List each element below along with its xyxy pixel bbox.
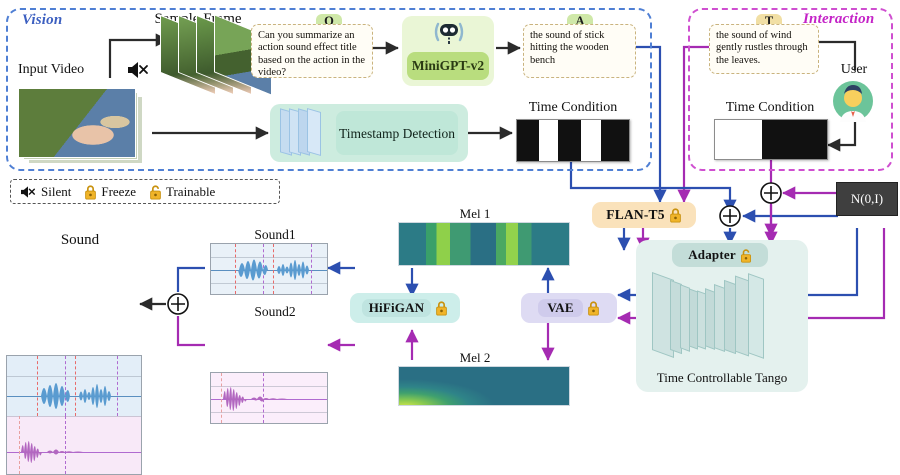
vae-module[interactable]: VAE — [521, 293, 617, 323]
open-lock-icon — [149, 184, 162, 200]
legend: Silent Freeze Trainable — [10, 179, 280, 204]
sum-node-output — [166, 292, 190, 321]
legend-item-freeze: Freeze — [84, 184, 136, 200]
answer-box: the sound of stick hitting the wooden be… — [523, 24, 636, 78]
mel1-label: Mel 1 — [440, 206, 510, 222]
sound-waveform — [6, 355, 142, 475]
sound-label: Sound — [20, 232, 140, 249]
unet-slabs — [652, 276, 772, 368]
legend-label-freeze: Freeze — [101, 184, 136, 200]
open-lock-icon — [740, 248, 752, 263]
mel1-spectrogram — [398, 222, 570, 266]
video-slab-stack — [280, 110, 328, 156]
timestamp-detection-module[interactable]: Timestamp Detection — [270, 104, 468, 162]
interaction-time-condition-bar — [714, 119, 828, 160]
question-box: Can you summarize an action sound effect… — [251, 24, 373, 78]
timestamp-detection-label: Timestamp Detection — [336, 111, 458, 155]
sample-frame-stack — [160, 26, 246, 92]
closed-lock-icon — [587, 300, 600, 316]
legend-item-silent: Silent — [19, 184, 71, 200]
hifigan-label: HiFiGAN — [362, 299, 432, 317]
closed-lock-icon — [84, 184, 97, 200]
flan-t5-label: FLAN-T5 — [606, 207, 664, 223]
robot-icon — [432, 20, 466, 46]
sum-node-upper — [759, 181, 783, 210]
sum-node-lower — [718, 204, 742, 233]
sound1-waveform — [210, 243, 328, 295]
vae-label: VAE — [538, 299, 582, 317]
sound2-waveform — [210, 372, 328, 424]
legend-label-trainable: Trainable — [166, 184, 215, 200]
vision-panel-label: Vision — [22, 12, 62, 29]
legend-item-trainable: Trainable — [149, 184, 215, 200]
muted-speaker-icon — [19, 185, 37, 199]
tango-label: Time Controllable Tango — [638, 370, 806, 386]
input-video-label: Input Video — [18, 62, 128, 78]
legend-label-silent: Silent — [41, 184, 71, 200]
vision-time-condition-label: Time Condition — [498, 100, 648, 116]
closed-lock-icon — [435, 300, 448, 316]
interaction-time-condition-label: Time Condition — [700, 100, 840, 116]
mel2-label: Mel 2 — [440, 350, 510, 366]
user-label: User — [826, 62, 882, 78]
hifigan-module[interactable]: HiFiGAN — [350, 293, 460, 323]
flan-t5-module[interactable]: FLAN-T5 — [592, 202, 696, 228]
mel2-spectrogram — [398, 366, 570, 406]
interaction-text-box: the sound of wind gently rustles through… — [709, 24, 819, 74]
sound2-label: Sound2 — [240, 304, 310, 320]
vision-time-condition-bar — [516, 119, 630, 162]
muted-speaker-icon — [126, 60, 150, 80]
adapter-label: Adapter — [688, 247, 736, 263]
figure-root: Vision Input Video Sample Frame Q Can yo… — [0, 0, 900, 411]
minigpt-module[interactable]: MiniGPT-v2 — [402, 16, 494, 86]
adapter-module[interactable]: Adapter — [672, 243, 768, 267]
sound1-label: Sound1 — [240, 227, 310, 243]
noise-node: N(0,I) — [836, 182, 898, 216]
input-video-thumbnail — [18, 88, 146, 166]
minigpt-label: MiniGPT-v2 — [407, 52, 489, 80]
closed-lock-icon — [669, 207, 682, 223]
